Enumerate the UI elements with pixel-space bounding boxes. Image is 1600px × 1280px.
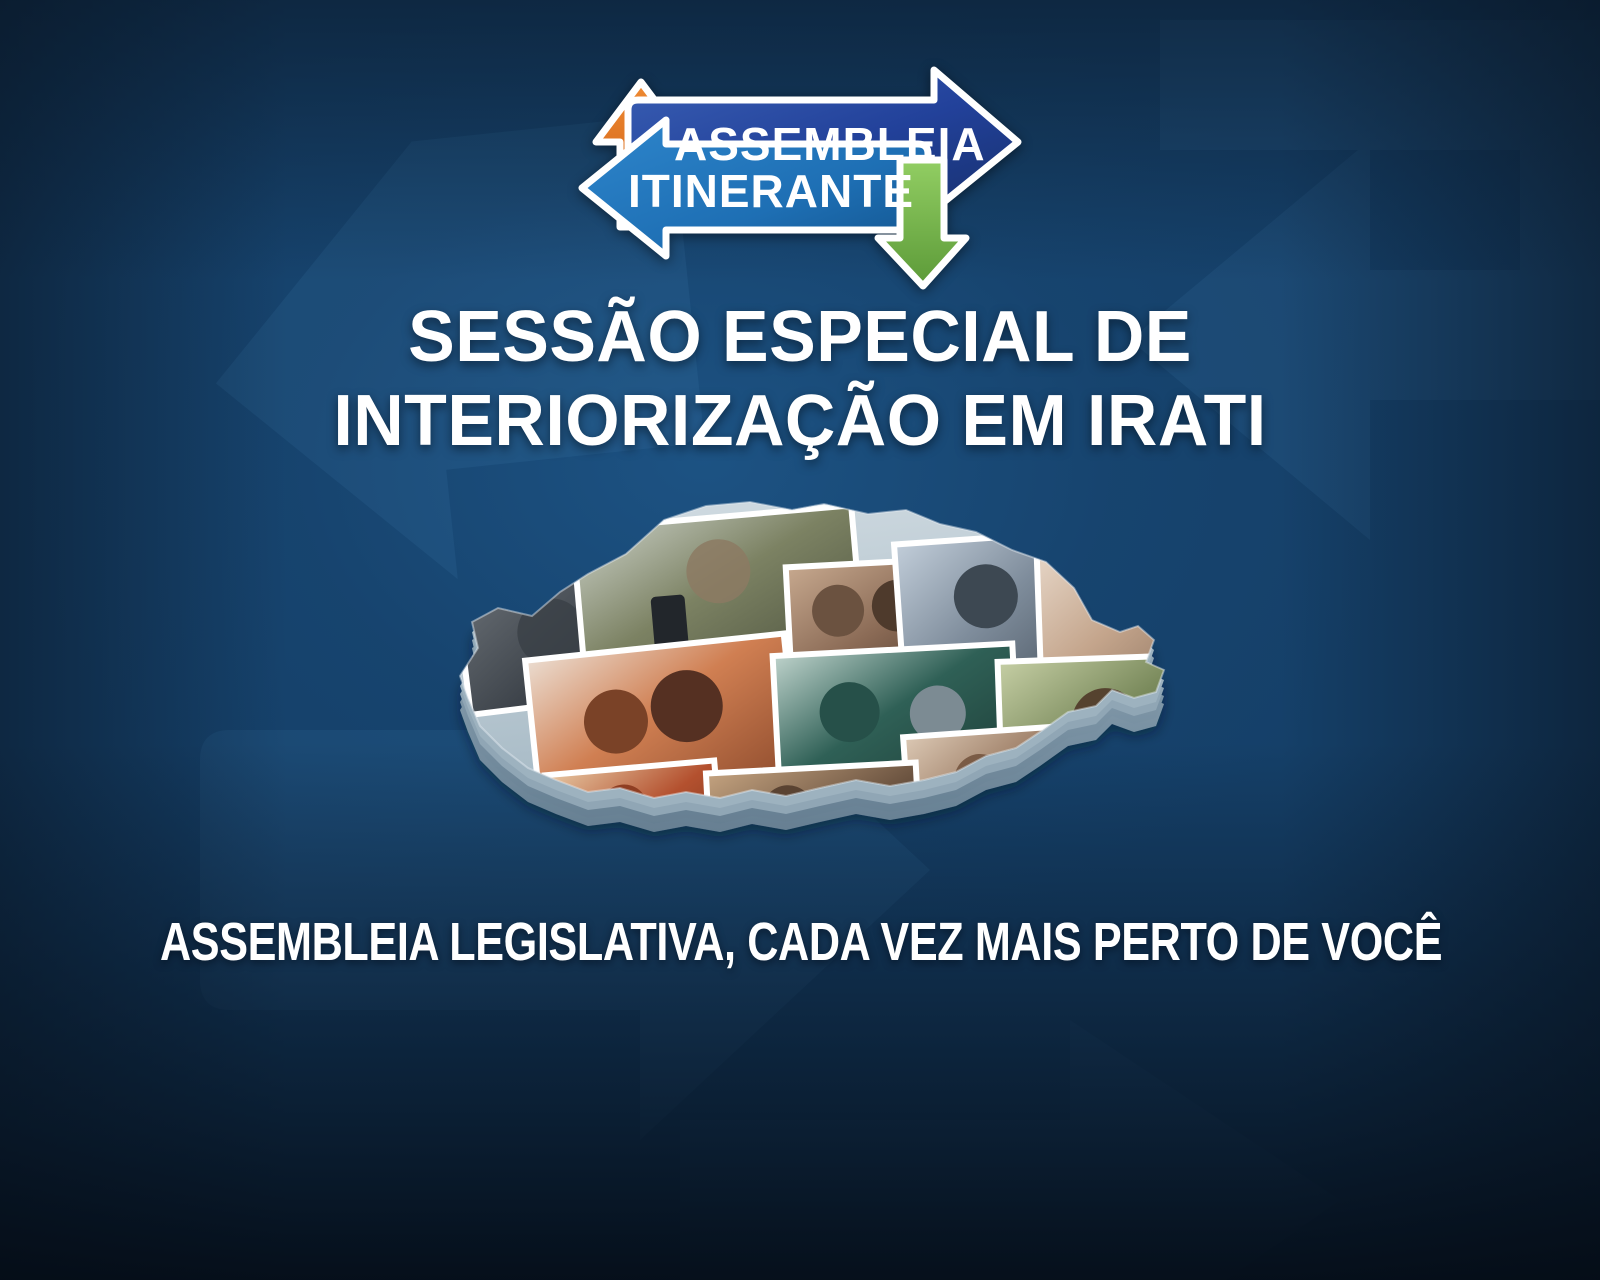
page-title: SESSÃO ESPECIAL DE INTERIORIZAÇÃO EM IRA… <box>24 296 1576 463</box>
photo-woman-yellow-shirt <box>1055 779 1198 880</box>
page-title-line-2: INTERIORIZAÇÃO EM IRATI <box>24 380 1576 464</box>
tagline: ASSEMBLEIA LEGISLATIVA, CADA VEZ MAIS PE… <box>160 915 1440 969</box>
parana-state-map-photo-collage <box>420 480 1220 880</box>
photo-collage <box>454 505 1220 880</box>
logo-line-itinerante: ITINERANTE <box>628 165 914 217</box>
photo-child-bun-hair <box>859 820 992 880</box>
assembleia-itinerante-logo[interactable]: ASSEMBLEIA ITINERANTE <box>566 42 1036 292</box>
photo-woman-hands-face <box>1036 519 1220 675</box>
photo-woman-yellow-tshirt-arms-crossed <box>1125 715 1220 858</box>
poster-canvas: ASSEMBLEIA ITINERANTE SESSÃO ESPECIAL DE… <box>0 0 1600 1280</box>
logo-line-assembleia: ASSEMBLEIA <box>674 118 986 170</box>
page-title-line-1: SESSÃO ESPECIAL DE <box>24 296 1576 380</box>
